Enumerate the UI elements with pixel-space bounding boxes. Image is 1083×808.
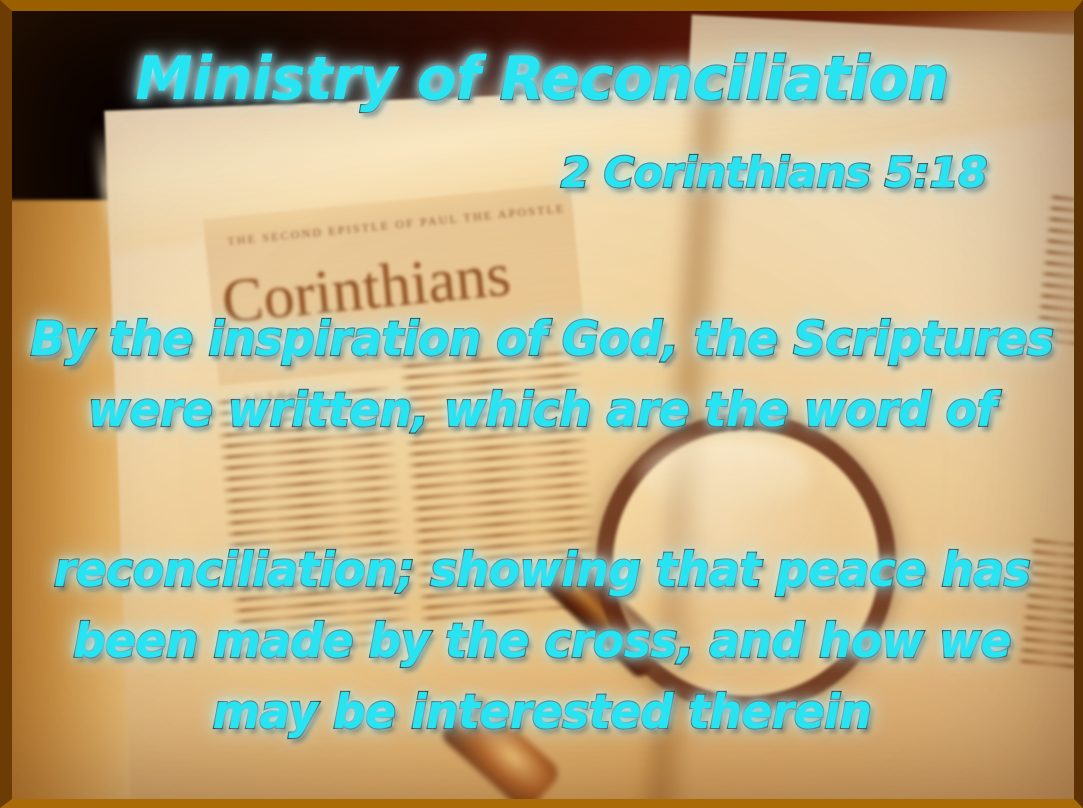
body-line-3: reconciliation; showing that peace has [53, 543, 1030, 598]
caption-layer: Ministry of Reconciliation 2 Corinthians… [0, 0, 1083, 808]
body-line-4: been made by the cross, and how we [72, 614, 1010, 669]
scripture-reference: 2 Corinthians 5:18 [561, 148, 987, 197]
body-line-2: were written, which are the word of [88, 383, 996, 438]
body-line-1: By the inspiration of God, the Scripture… [30, 312, 1053, 367]
body-line-5: may be interested therein [212, 685, 871, 740]
scripture-slide: THE SECOND EPISTLE OF PAUL THE APOSTLE C… [0, 0, 1083, 808]
page-title: Ministry of Reconciliation [135, 44, 948, 114]
